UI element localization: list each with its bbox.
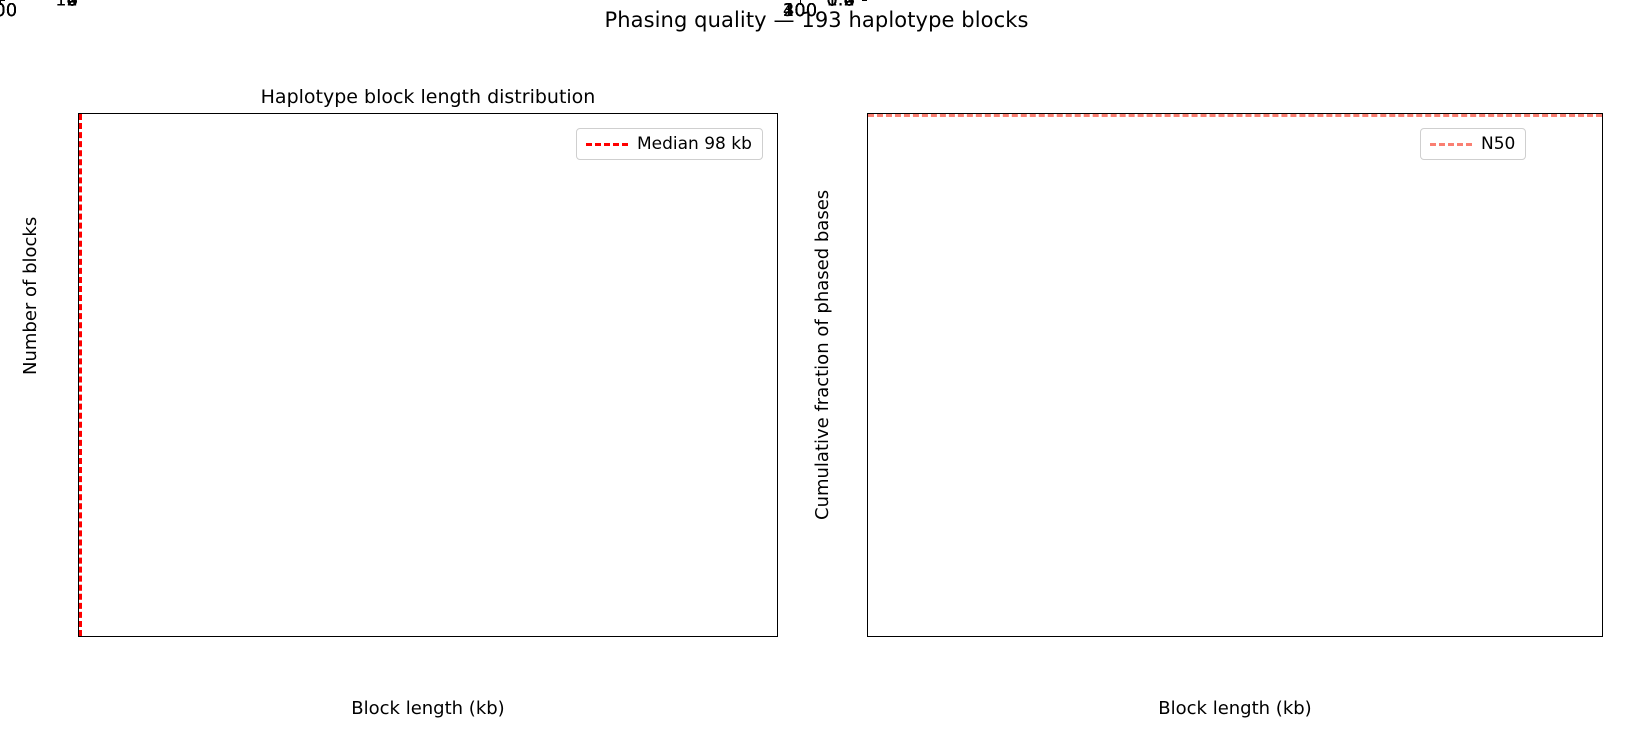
figure-canvas: Phasing quality — 193 haplotype blocks H… [0, 0, 1633, 740]
histogram-panel: Haplotype block length distribution Medi… [0, 0, 800, 740]
n50-legend-label: N50 [1481, 134, 1515, 154]
median-legend-label: Median 98 kb [637, 134, 752, 154]
y-tick-label: 1.0 [777, 0, 855, 11]
cdf-panel: Block length CDF 01002003004000.20.40.60… [800, 0, 1633, 740]
cdf-plot-area [867, 113, 1603, 637]
n50-legend-swatch [1430, 143, 1472, 146]
histogram-yaxis-label: Number of blocks [20, 217, 41, 375]
cdf-xaxis-label: Block length (kb) [867, 698, 1603, 719]
cdf-legend[interactable]: N50 [1420, 128, 1526, 160]
n50-hline-layer [868, 114, 1602, 636]
cdf-yaxis-label: Cumulative fraction of phased bases [812, 190, 833, 520]
median-vline [79, 114, 82, 636]
y-tick-label: 10 [0, 0, 78, 11]
median-legend-swatch [586, 143, 628, 146]
histogram-legend[interactable]: Median 98 kb [576, 128, 763, 160]
n50-hline [868, 114, 1602, 117]
median-vline-layer [79, 114, 777, 636]
histogram-xaxis-label: Block length (kb) [78, 698, 778, 719]
y-tick [862, 0, 867, 1]
histogram-plot-area [78, 113, 778, 637]
histogram-title-line1: Haplotype block length distribution [78, 84, 778, 110]
